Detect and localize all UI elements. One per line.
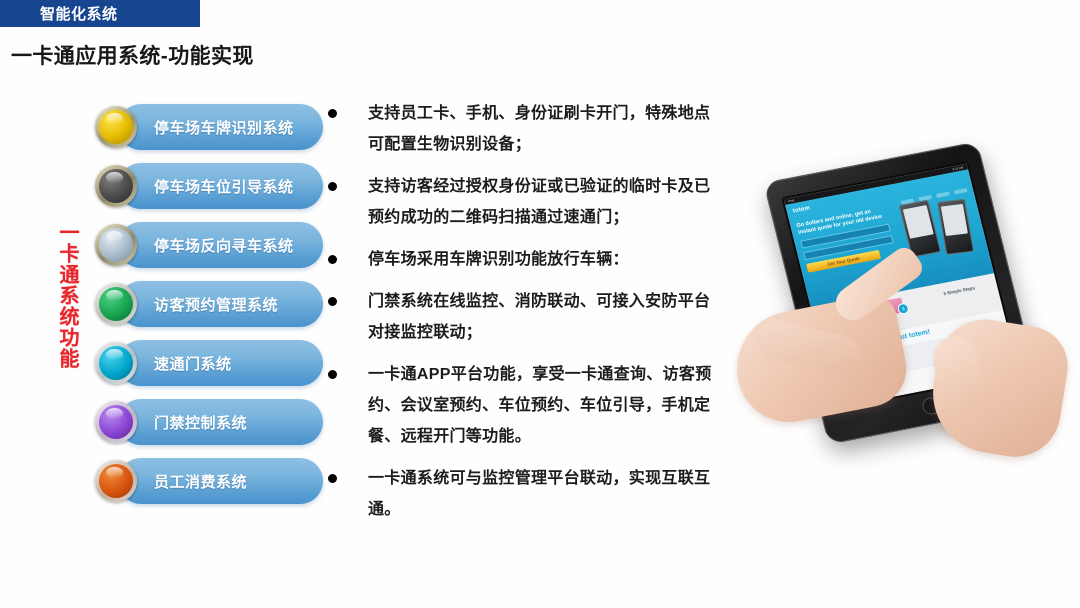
bullet-dot-icon [328, 182, 337, 191]
dark-orb-icon [95, 165, 137, 207]
bullet-text: 一卡通APP平台功能，享受一卡通查询、访客预约、会议室预约、车位预约、车位引导，… [368, 366, 712, 445]
list-item[interactable]: 停车场车牌识别系统 [95, 98, 335, 156]
bullet-text: 一卡通系统可与监控管理平台联动，实现互联互通。 [368, 470, 710, 518]
steps-title: 3 Simple Steps [943, 282, 991, 296]
nav-item[interactable] [954, 188, 968, 194]
bullet-item: 支持访客经过授权身份证或已验证的临时卡及已预约成功的二维码扫描通过速通门； [326, 171, 718, 233]
banner-label: 智能化系统 [40, 3, 118, 24]
page-title: 一卡通应用系统-功能实现 [11, 40, 254, 70]
list-item[interactable]: 停车场反向寻车系统 [95, 216, 335, 274]
sidebar-item-access-control[interactable]: 门禁控制系统 [118, 399, 323, 445]
bullet-item: 支持员工卡、手机、身份证刷卡开门，特殊地点可配置生物识别设备； [326, 98, 718, 160]
sidebar-item-speed-gate[interactable]: 速通门系统 [118, 340, 323, 386]
sidebar-item-parking-plate-recognition[interactable]: 停车场车牌识别系统 [118, 104, 323, 150]
list-item-label: 员工消费系统 [154, 471, 247, 492]
header-banner: 智能化系统 [0, 0, 200, 27]
green-orb-icon [95, 283, 137, 325]
bullet-text: 停车场采用车牌识别功能放行车辆： [368, 251, 629, 268]
system-function-list: 停车场车牌识别系统 停车场车位引导系统 停车场反向寻车系统 访客预约管理系统 速 [95, 98, 335, 511]
list-item[interactable]: 停车场车位引导系统 [95, 157, 335, 215]
bullet-list: 支持员工卡、手机、身份证刷卡开门，特殊地点可配置生物识别设备； 支持访客经过授权… [326, 98, 718, 536]
slide-root: 智能化系统 一卡通应用系统-功能实现 一卡通系统功能 停车场车牌识别系统 停车场… [0, 0, 1080, 608]
bullet-item: 一卡通APP平台功能，享受一卡通查询、访客预约、会议室预约、车位预约、车位引导，… [326, 359, 718, 452]
bullet-dot-icon [328, 474, 337, 483]
cyan-orb-icon [95, 342, 137, 384]
list-item-label: 停车场车位引导系统 [154, 176, 294, 197]
bullet-dot-icon [328, 255, 337, 264]
nav-item[interactable] [936, 192, 950, 198]
purple-orb-icon [95, 401, 137, 443]
vertical-section-caption: 一卡通系统功能 [47, 222, 77, 369]
bullet-item: 一卡通系统可与监控管理平台联动，实现互联互通。 [326, 463, 718, 525]
sidebar-item-parking-space-guidance[interactable]: 停车场车位引导系统 [118, 163, 323, 209]
bullet-item: 停车场采用车牌识别功能放行车辆： [326, 244, 718, 275]
bullet-dot-icon [328, 370, 337, 379]
list-item[interactable]: 门禁控制系统 [95, 393, 335, 451]
list-item[interactable]: 员工消费系统 [95, 452, 335, 510]
phone-image-slider [937, 199, 974, 255]
gold-orb-icon [95, 106, 137, 148]
sidebar-item-employee-consumption[interactable]: 员工消费系统 [118, 458, 323, 504]
list-item-label: 速通门系统 [154, 353, 232, 374]
list-item[interactable]: 访客预约管理系统 [95, 275, 335, 333]
sidebar-item-visitor-reservation[interactable]: 访客预约管理系统 [118, 281, 323, 327]
bullet-item: 门禁系统在线监控、消防联动、可接入安防平台对接监控联动； [326, 286, 718, 348]
bullet-text: 门禁系统在线监控、消防联动、可接入安防平台对接监控联动； [368, 293, 710, 341]
orange-orb-icon [95, 460, 137, 502]
bullet-text: 支持访客经过授权身份证或已验证的临时卡及已预约成功的二维码扫描通过速通门； [368, 178, 710, 226]
list-item-label: 停车场反向寻车系统 [154, 235, 294, 256]
list-item-label: 访客预约管理系统 [154, 294, 278, 315]
bullet-dot-icon [328, 297, 337, 306]
silver-orb-icon [95, 224, 137, 266]
list-item-label: 停车场车牌识别系统 [154, 117, 294, 138]
list-item[interactable]: 速通门系统 [95, 334, 335, 392]
bullet-text: 支持员工卡、手机、身份证刷卡开门，特殊地点可配置生物识别设备； [368, 105, 710, 153]
sidebar-item-reverse-car-finding[interactable]: 停车场反向寻车系统 [118, 222, 323, 268]
hands-holding-tablet-photo: iPad 9:41 AM totem Go dollars and online… [742, 150, 1080, 490]
list-item-label: 门禁控制系统 [154, 412, 247, 433]
bullet-dot-icon [328, 109, 337, 118]
